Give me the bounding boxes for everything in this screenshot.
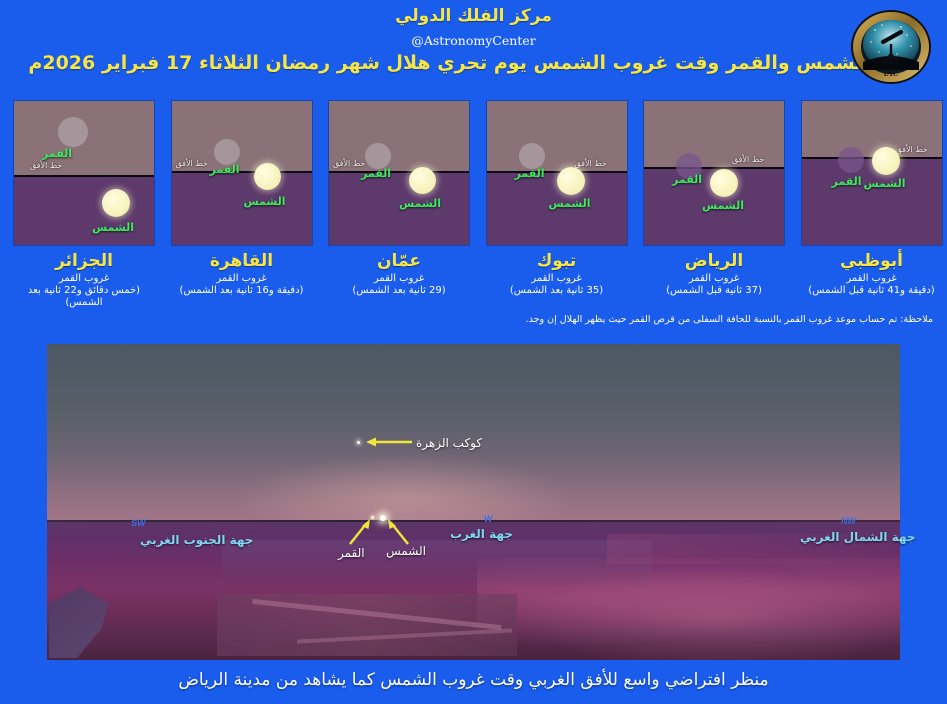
panorama-sun-label: الشمس [386, 544, 426, 558]
footnote: ملاحظة: تم حساب موعد غروب القمر بالنسبة … [0, 314, 933, 325]
direction-abbreviation: NW [841, 516, 856, 526]
horizon-line [487, 171, 627, 173]
moon-disc [838, 147, 864, 173]
horizon-label: خط الأفق [732, 155, 764, 164]
sun-disc [102, 189, 130, 217]
sky-diagram: خط الأفقالقمرالشمس [172, 101, 312, 245]
sun-disc [710, 169, 738, 197]
horizon-label: خط الأفق [176, 159, 208, 168]
sky-diagram: خط الأفقالقمرالشمس [644, 101, 784, 245]
city-name: الجزائر [14, 251, 154, 271]
moon-disc [214, 139, 240, 165]
direction-label: جهة الشمال الغربي [800, 530, 916, 544]
city-name: تبوك [487, 251, 627, 271]
sun-label: الشمس [549, 197, 591, 210]
moonset-delta: (37 ثانية قبل الشمس) [644, 285, 784, 297]
moon-label: القمر [515, 167, 545, 180]
sun-disc [254, 163, 281, 190]
moon-label: القمر [361, 167, 391, 180]
horizon-label: خط الأفق [575, 159, 607, 168]
sky-diagram: خط الأفقالقمرالشمس [487, 101, 627, 245]
city-panel: خط الأفقالقمرالشمسأبوظبيغروب القمر(دقيقة… [802, 101, 942, 297]
city-name: القاهرة [172, 251, 312, 271]
sun-label: الشمس [92, 221, 134, 234]
horizon-line [14, 175, 154, 177]
moon-disc [365, 143, 391, 169]
horizon-label: خط الأفق [896, 145, 928, 154]
horizon-line [644, 167, 784, 169]
page-title: وضع الشمس والقمر وقت غروب الشمس يوم تحري… [0, 52, 947, 74]
organization-title: مركز الفلك الدولي [0, 6, 947, 26]
bottom-caption: منظر افتراضي واسع للأفق الغربي وقت غروب … [0, 670, 947, 690]
sun-disc [409, 167, 436, 194]
venus-label: كوكب الزهرة [416, 436, 482, 450]
sky-below-horizon [14, 175, 154, 245]
moon-arrow-icon [346, 518, 372, 546]
moon-disc [519, 143, 545, 169]
direction-label: جهة الجنوب الغربي [140, 533, 253, 547]
sun-disc [557, 167, 585, 195]
sun-label: الشمس [244, 195, 286, 208]
city-panel: خط الأفقالقمرالشمسالجزائرغروب القمر(خمس … [14, 101, 154, 308]
city-name: أبوظبي [802, 251, 942, 271]
venus-marker [357, 441, 360, 444]
moonset-delta: (35 ثانية بعد الشمس) [487, 285, 627, 297]
panorama-view [47, 344, 900, 660]
city-name: الرياض [644, 251, 784, 271]
moonset-label: غروب القمر [329, 273, 469, 284]
sky-diagram: خط الأفقالقمرالشمس [802, 101, 942, 245]
city-panel: خط الأفقالقمرالشمسعمّانغروب القمر(29 ثان… [329, 101, 469, 297]
iac-logo: IAC [849, 8, 933, 86]
moonset-label: غروب القمر [802, 273, 942, 284]
city-lights [477, 558, 900, 660]
city-panel: خط الأفقالقمرالشمستبوكغروب القمر(35 ثاني… [487, 101, 627, 297]
direction-abbreviation: W [484, 514, 493, 524]
moon-disc [58, 117, 88, 147]
moonset-delta: (خمس دقائق و22 ثانية بعد الشمس) [14, 285, 154, 308]
moonset-label: غروب القمر [14, 273, 154, 284]
city-name: عمّان [329, 251, 469, 271]
city-panels-row: خط الأفقالقمرالشمسالجزائرغروب القمر(خمس … [0, 101, 947, 316]
sky-diagram: خط الأفقالقمرالشمس [14, 101, 154, 245]
sky-diagram: خط الأفقالقمرالشمس [329, 101, 469, 245]
direction-abbreviation: SW [131, 518, 146, 528]
city-panel: خط الأفقالقمرالشمسالقاهرةغروب القمر(دقيق… [172, 101, 312, 297]
venus-arrow-icon [364, 436, 414, 448]
direction-label: جهة الغرب [450, 527, 513, 541]
moon-label: القمر [42, 147, 72, 160]
logo-acronym: IAC [884, 69, 899, 78]
infographic-root: مركز الفلك الدولي @AstronomyCenter وضع ا… [0, 0, 947, 704]
sun-arrow-icon [386, 518, 412, 546]
horizon-line [172, 171, 312, 173]
moonset-label: غروب القمر [172, 273, 312, 284]
city-panel: خط الأفقالقمرالشمسالرياضغروب القمر(37 ثا… [644, 101, 784, 297]
moonset-delta: (29 ثانية بعد الشمس) [329, 285, 469, 297]
horizon-line [329, 171, 469, 173]
moon-label: القمر [672, 173, 702, 186]
moonset-delta: (دقيقة و16 ثانية بعد الشمس) [172, 285, 312, 297]
moonset-label: غروب القمر [644, 273, 784, 284]
panorama-moon-label: القمر [338, 546, 365, 560]
sun-disc [872, 147, 900, 175]
moonset-delta: (دقيقة و41 ثانية قبل الشمس) [802, 285, 942, 297]
sky-below-horizon [172, 171, 312, 245]
sky-below-horizon [802, 157, 942, 245]
moon-label: القمر [210, 163, 240, 176]
sun-label: الشمس [864, 177, 906, 190]
moonset-label: غروب القمر [487, 273, 627, 284]
telescope-badge-icon: IAC [849, 8, 933, 86]
horizon-label: خط الأفق [30, 161, 62, 170]
moon-label: القمر [832, 175, 862, 188]
sun-label: الشمس [399, 197, 441, 210]
social-handle: @AstronomyCenter [0, 33, 947, 48]
sun-label: الشمس [702, 199, 744, 212]
header: مركز الفلك الدولي @AstronomyCenter وضع ا… [0, 0, 947, 95]
